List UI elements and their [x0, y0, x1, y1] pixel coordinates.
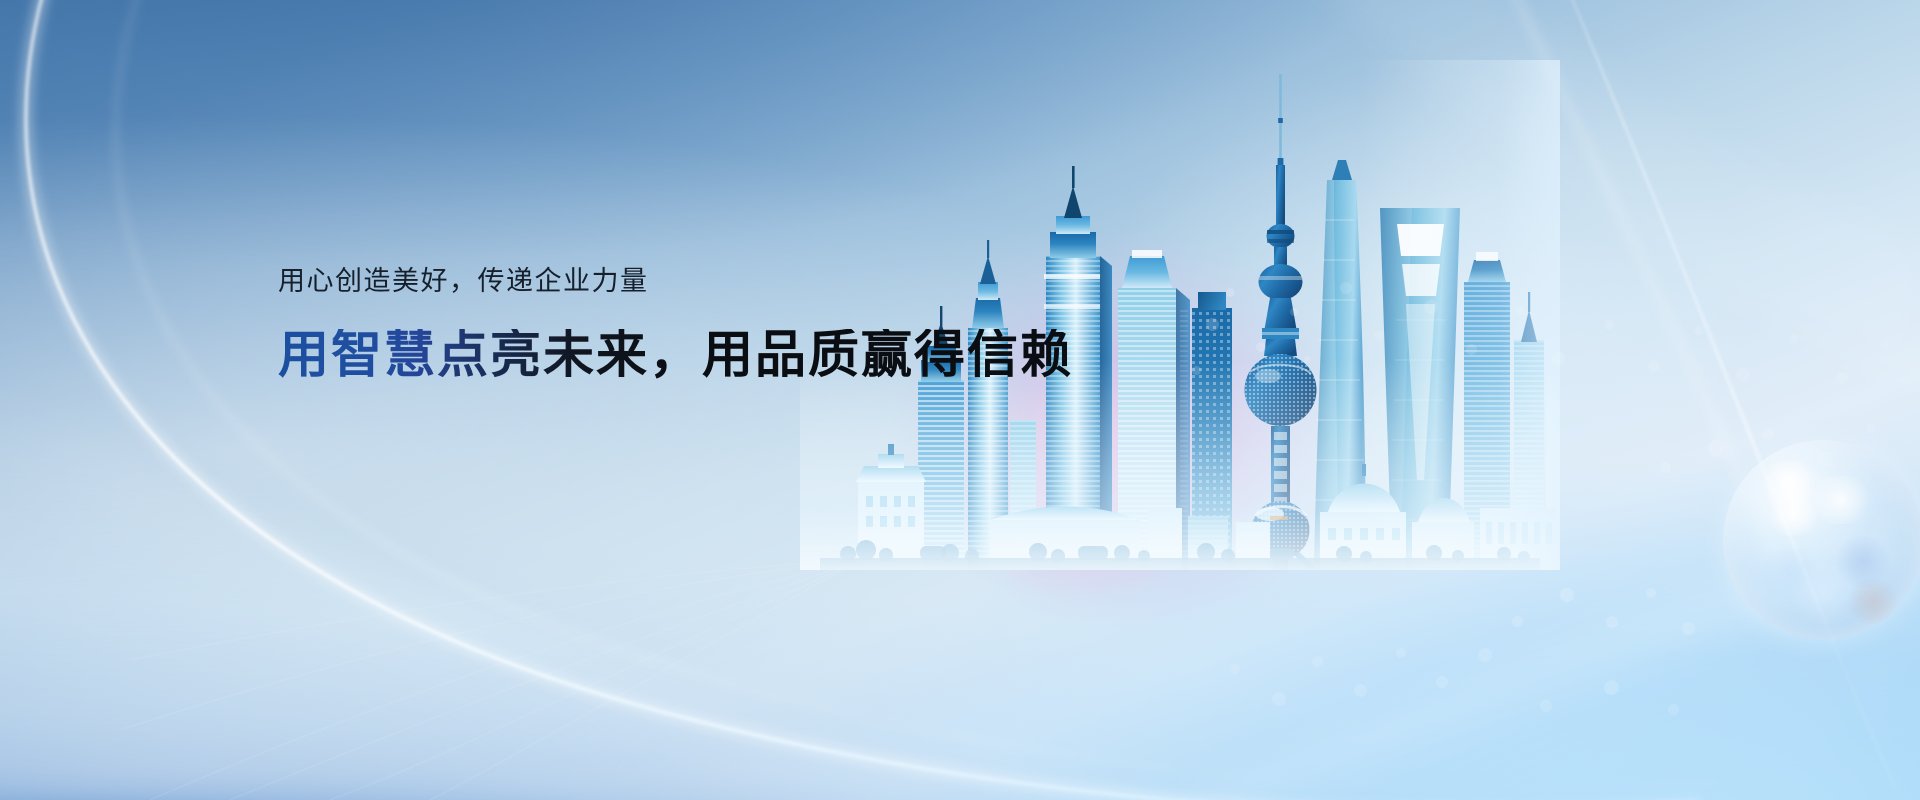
glass-sphere [1723, 440, 1920, 640]
hero-banner: 用心创造美好，传递企业力量 用智慧点亮未来，用品质赢得信赖 [0, 0, 1920, 800]
bokeh-dots [0, 0, 1920, 800]
sphere-facet-f [1847, 580, 1899, 624]
sphere-facet-b [1811, 476, 1871, 524]
